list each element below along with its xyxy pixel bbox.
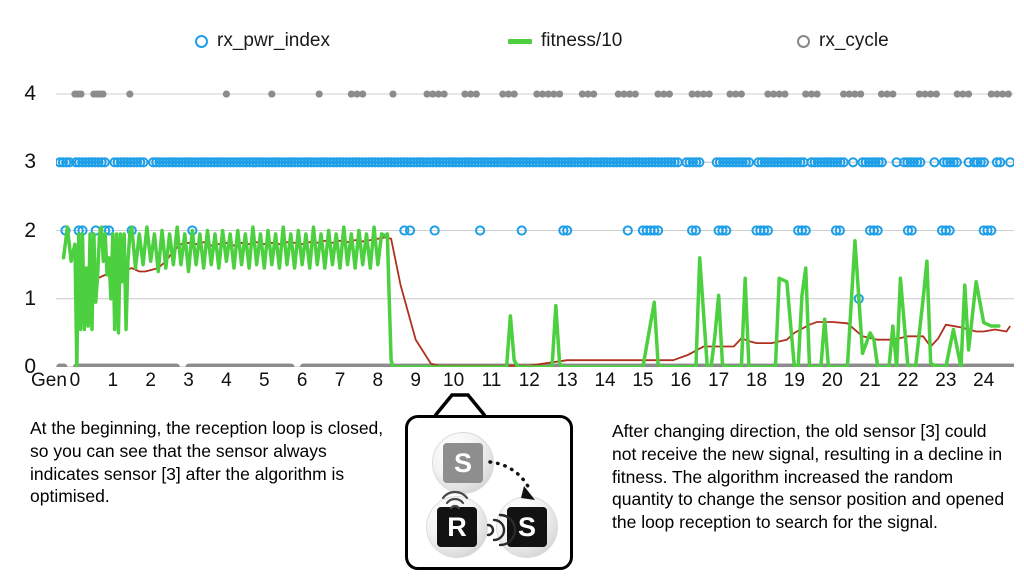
- x-tick-label: 16: [670, 370, 691, 392]
- legend-item-rx-cycle: rx_cycle: [797, 30, 889, 52]
- x-tick-label: 5: [259, 370, 270, 392]
- x-tick-label: 9: [410, 370, 421, 392]
- x-tick-label: 1: [108, 370, 119, 392]
- x-tick-label: 10: [443, 370, 464, 392]
- x-tick-label: 13: [557, 370, 578, 392]
- x-tick-label: 14: [594, 370, 615, 392]
- x-tick-label: 22: [897, 370, 918, 392]
- x-tick-label: 24: [973, 370, 994, 392]
- x-tick-label: 19: [784, 370, 805, 392]
- legend-label: rx_pwr_index: [217, 30, 330, 52]
- x-tick-label: 21: [860, 370, 881, 392]
- fitness-chart: 01234 Gen 012345678910111213141516171819…: [0, 62, 1024, 382]
- module-face-label: S: [507, 507, 547, 547]
- x-tick-label: 2: [145, 370, 156, 392]
- x-tick-label: 12: [519, 370, 540, 392]
- sensor-diagram-callout: S R S: [405, 415, 573, 570]
- y-tick-label: 1: [24, 287, 36, 311]
- data-series: [56, 77, 1014, 367]
- x-tick-label: 8: [373, 370, 384, 392]
- open-circle-icon: [797, 35, 810, 48]
- x-tick-label: 11: [482, 370, 502, 392]
- legend-item-rx-pwr-index: rx_pwr_index: [195, 30, 330, 52]
- x-tick-label: 7: [335, 370, 346, 392]
- x-axis: Gen 012345678910111213141516171819202122…: [0, 370, 1024, 398]
- x-tick-label: 0: [70, 370, 81, 392]
- y-tick-label: 3: [24, 150, 36, 174]
- legend-label: fitness/10: [541, 30, 622, 52]
- module-face-label: R: [437, 507, 477, 547]
- y-axis: 01234: [0, 77, 50, 367]
- legend-label: rx_cycle: [819, 30, 889, 52]
- line-segment-icon: [508, 39, 532, 44]
- x-tick-label: 15: [632, 370, 653, 392]
- x-tick-label: 17: [708, 370, 729, 392]
- caption-left: At the beginning, the reception loop is …: [30, 417, 385, 508]
- x-tick-label: 3: [183, 370, 194, 392]
- module-old-sensor: S: [432, 432, 494, 494]
- radio-wave-icon: [438, 488, 472, 510]
- y-tick-label: 2: [24, 219, 36, 243]
- x-tick-label: 23: [935, 370, 956, 392]
- x-tick-label: 18: [746, 370, 767, 392]
- figure-root: rx_pwr_index fitness/10 rx_cycle 01234 G…: [0, 0, 1024, 576]
- x-tick-label: 20: [822, 370, 843, 392]
- legend-item-fitness: fitness/10: [508, 30, 622, 52]
- x-tick-label: 4: [221, 370, 232, 392]
- caption-right: After changing direction, the old sensor…: [612, 420, 1007, 534]
- x-tick-label: 6: [297, 370, 308, 392]
- open-circle-icon: [195, 35, 208, 48]
- plot-area: [56, 77, 1014, 367]
- module-face-label: S: [443, 443, 483, 483]
- chart-legend: rx_pwr_index fitness/10 rx_cycle: [0, 30, 1024, 64]
- y-tick-label: 4: [24, 82, 36, 106]
- radio-wave-icon: [482, 514, 508, 544]
- dotted-arrow-icon: [488, 456, 548, 506]
- x-axis-label: Gen: [31, 370, 67, 392]
